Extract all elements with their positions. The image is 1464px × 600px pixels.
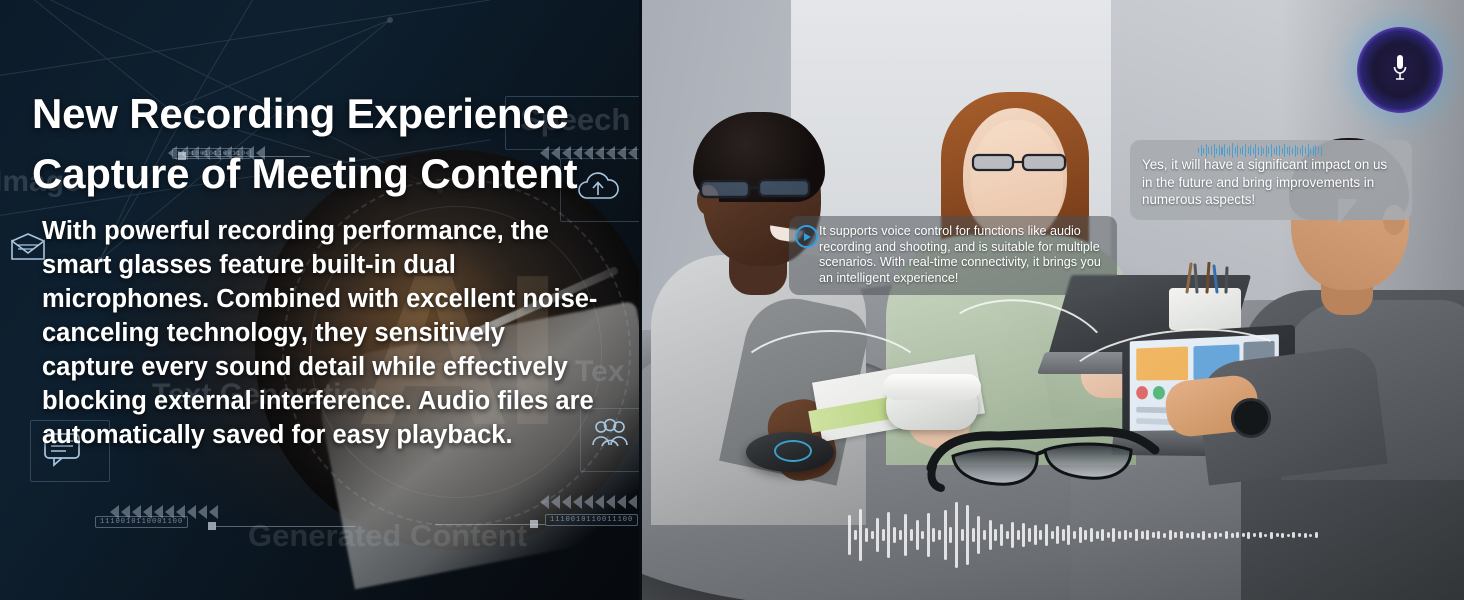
left-copy-block: New Recording Experience Capture of Meet… — [32, 84, 612, 452]
hud-slider-track-1 — [215, 526, 355, 527]
hud-slider-track-2 — [435, 524, 545, 525]
speakerphone-ring — [774, 440, 812, 462]
smart-glasses-person-center — [971, 152, 1069, 174]
bubble-waveform-icon — [1198, 142, 1322, 159]
binary-strip-2: 1110010110011100 — [545, 514, 638, 526]
speech-bubble-right-tail — [1338, 199, 1358, 225]
promo-banner: AI Speech Image Text Generation Tex Gene… — [0, 0, 1464, 600]
pen-holder — [1169, 288, 1241, 330]
left-text-panel: AI Speech Image Text Generation Tex Gene… — [0, 0, 641, 600]
cable-1 — [729, 330, 933, 444]
play-circle-icon[interactable] — [795, 225, 818, 248]
speech-bubble-left: It supports voice control for functions … — [789, 216, 1117, 295]
audio-waveform-bars — [848, 498, 1318, 572]
smart-glasses-product — [919, 420, 1169, 500]
hud-slider-knob-1 — [208, 522, 216, 530]
headline-line-1: New Recording Experience — [32, 84, 612, 144]
microphone-icon — [1392, 53, 1408, 87]
body-paragraph: With powerful recording performance, the… — [42, 214, 602, 452]
speech-bubble-left-text: It supports voice control for functions … — [819, 224, 1101, 285]
chevron-row-bottom-right — [540, 495, 637, 509]
microphone-badge[interactable] — [1357, 27, 1443, 113]
panel-divider — [639, 0, 642, 600]
hud-slider-knob-2 — [530, 520, 538, 528]
pens-icon — [1181, 262, 1233, 294]
binary-strip-1: 1110010110001100 — [95, 516, 188, 528]
headline-line-2: Capture of Meeting Content — [32, 144, 612, 204]
smart-watch — [1231, 398, 1271, 438]
smart-glasses-person-left — [699, 178, 815, 200]
